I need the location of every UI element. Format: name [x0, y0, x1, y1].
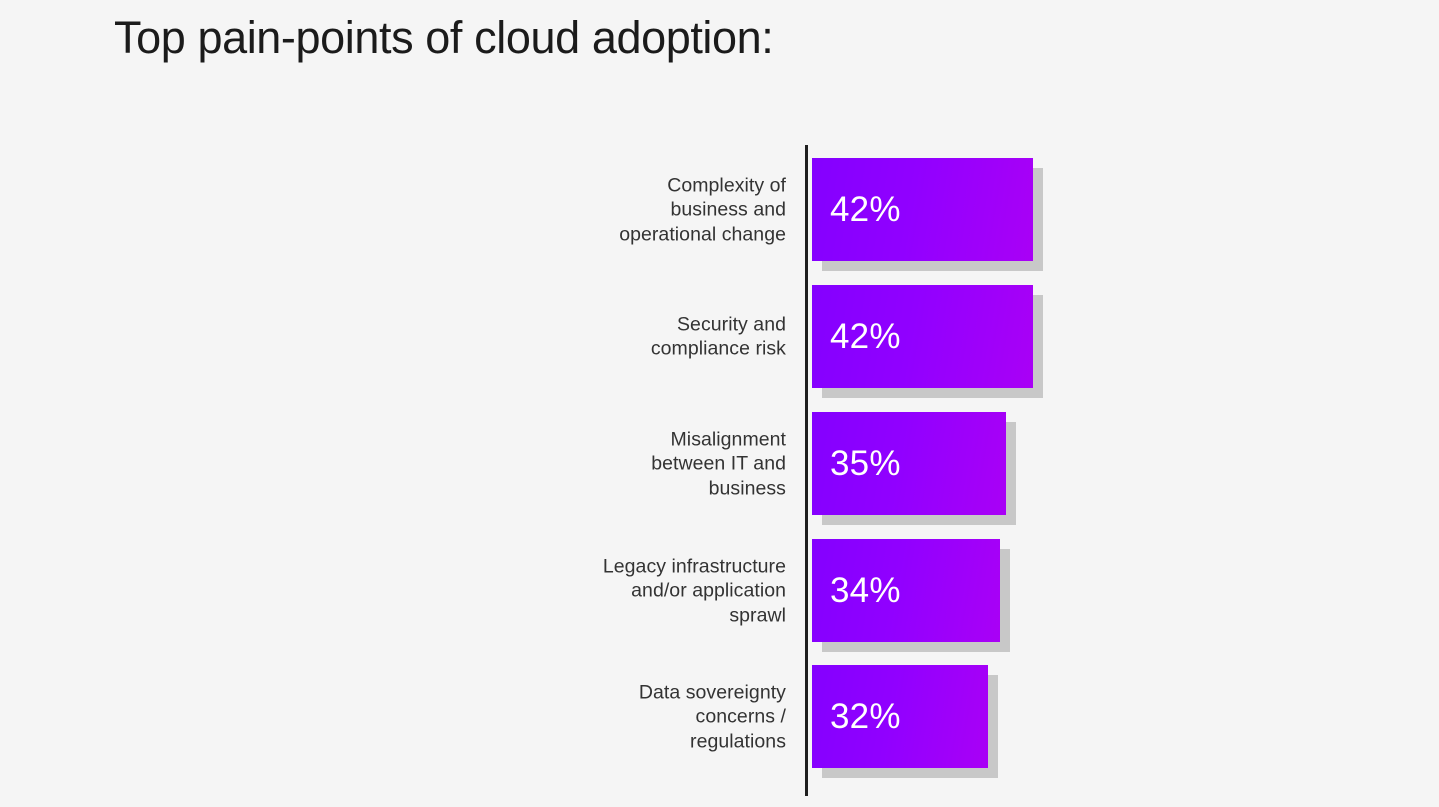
bar-category-label: Data sovereignty concerns / regulations: [366, 680, 786, 754]
bar-value-label: 42%: [830, 317, 901, 357]
bar-5[interactable]: 32%: [812, 665, 988, 768]
bar-fill: 42%: [812, 158, 1033, 261]
bar-value-label: 35%: [830, 444, 901, 484]
table-row: Legacy infrastructure and/or application…: [0, 539, 1439, 642]
bar-4[interactable]: 34%: [812, 539, 1000, 642]
bar-category-label: Complexity of business and operational c…: [366, 173, 786, 247]
bar-3[interactable]: 35%: [812, 412, 1006, 515]
bar-value-label: 42%: [830, 190, 901, 230]
bar-fill: 42%: [812, 285, 1033, 388]
bar-fill: 34%: [812, 539, 1000, 642]
bar-fill: 32%: [812, 665, 988, 768]
bar-category-label: Misalignment between IT and business: [366, 427, 786, 501]
bar-category-label: Legacy infrastructure and/or application…: [366, 554, 786, 628]
table-row: Misalignment between IT and business 35%: [0, 412, 1439, 515]
plot-area: Complexity of business and operational c…: [0, 143, 1439, 798]
bar-2[interactable]: 42%: [812, 285, 1033, 388]
bar-chart: Top pain-points of cloud adoption: Compl…: [0, 0, 1439, 807]
bar-fill: 35%: [812, 412, 1006, 515]
bar-value-label: 34%: [830, 571, 901, 611]
table-row: Data sovereignty concerns / regulations …: [0, 665, 1439, 768]
table-row: Complexity of business and operational c…: [0, 158, 1439, 261]
page-title: Top pain-points of cloud adoption:: [114, 8, 773, 68]
bar-category-label: Security and compliance risk: [366, 312, 786, 361]
bar-1[interactable]: 42%: [812, 158, 1033, 261]
bar-value-label: 32%: [830, 697, 901, 737]
table-row: Security and compliance risk 42%: [0, 285, 1439, 388]
